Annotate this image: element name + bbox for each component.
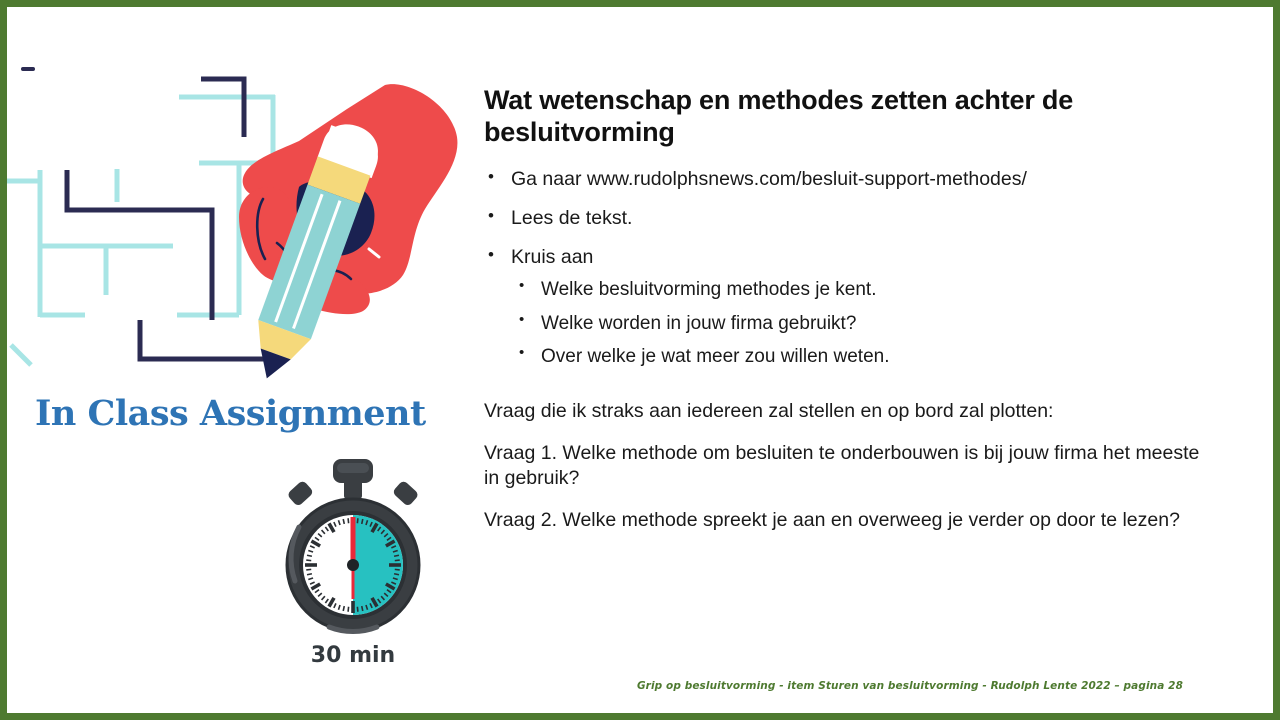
- list-item: Lees de tekst.: [484, 206, 1214, 230]
- page-title: Wat wetenschap en methodes zetten achter…: [484, 85, 1214, 149]
- slide-footer: Grip op besluitvorming - item Sturen van…: [7, 680, 1273, 692]
- stopwatch-caption: 30 min: [265, 643, 441, 668]
- in-class-assignment-title: In Class Assignment: [35, 393, 455, 434]
- subbullet-text: Welke besluitvorming methodes je kent.: [541, 279, 876, 300]
- bullet-text: Kruis aan: [511, 246, 593, 268]
- list-item: Ga naar www.rudolphsnews.com/besluit-sup…: [484, 167, 1214, 191]
- slide-canvas: In Class Assignment: [0, 0, 1280, 720]
- content-column: Wat wetenschap en methodes zetten achter…: [484, 85, 1214, 533]
- list-item: Over welke je wat meer zou willen weten.: [511, 345, 1214, 369]
- bullet-text: Ga naar www.rudolphsnews.com/besluit-sup…: [511, 168, 1027, 190]
- checklist-sublist: Welke besluitvorming methodes je kent. W…: [511, 278, 1214, 369]
- questions-block: Vraag die ik straks aan iedereen zal ste…: [484, 399, 1214, 533]
- list-item: Welke besluitvorming methodes je kent.: [511, 278, 1214, 302]
- list-item: Welke worden in jouw firma gebruikt?: [511, 312, 1214, 336]
- left-illustration-column: In Class Assignment: [7, 7, 467, 720]
- list-item: Kruis aan Welke besluitvorming methodes …: [484, 245, 1214, 369]
- subbullet-text: Welke worden in jouw firma gebruikt?: [541, 313, 856, 334]
- hand-pencil-maze-illustration: [7, 27, 467, 387]
- subbullet-text: Over welke je wat meer zou willen weten.: [541, 346, 889, 367]
- stopwatch-illustration: [265, 455, 441, 635]
- questions-intro: Vraag die ik straks aan iedereen zal ste…: [484, 399, 1214, 424]
- question-two: Vraag 2. Welke methode spreekt je aan en…: [484, 508, 1214, 533]
- bullet-text: Lees de tekst.: [511, 207, 632, 229]
- question-one: Vraag 1. Welke methode om besluiten te o…: [484, 441, 1214, 491]
- instruction-list: Ga naar www.rudolphsnews.com/besluit-sup…: [484, 167, 1214, 369]
